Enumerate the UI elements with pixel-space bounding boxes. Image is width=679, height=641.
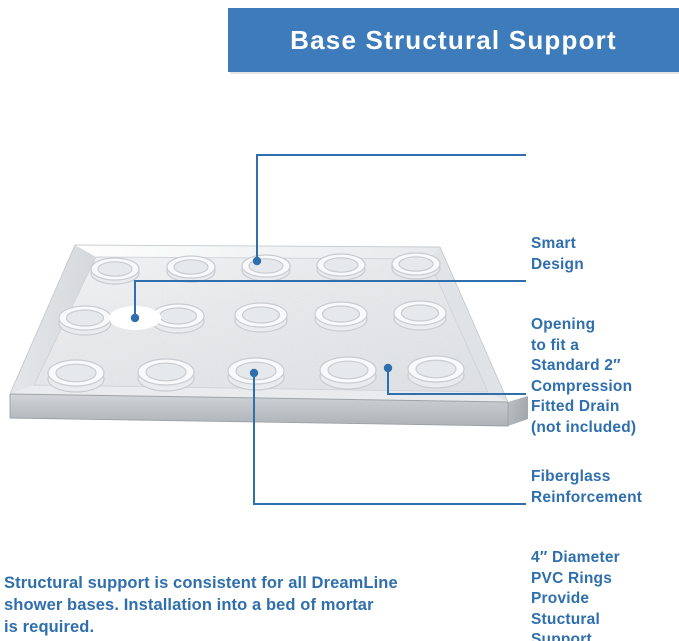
pvc-ring xyxy=(320,357,376,389)
leader-dot-fiberglass xyxy=(384,364,392,372)
pvc-ring xyxy=(138,359,194,391)
pvc-ring xyxy=(235,303,287,332)
pvc-ring xyxy=(48,360,104,392)
pvc-ring xyxy=(59,306,111,335)
pvc-ring xyxy=(392,253,440,279)
pvc-ring xyxy=(408,356,464,388)
leader-dot-opening xyxy=(131,314,139,322)
pvc-ring xyxy=(315,302,367,331)
pvc-ring xyxy=(317,254,365,280)
callout-label-fiberglass-reinforcement: Fiberglass Reinforcement xyxy=(531,467,642,508)
leader-dot-pvc-rings xyxy=(250,369,258,377)
pvc-ring xyxy=(91,258,139,284)
callout-label-pvc-rings: 4″ Diameter PVC Rings Provide Stuctural … xyxy=(531,548,620,641)
leader-line-smart-design xyxy=(257,155,525,261)
page-root: Base Structural Support xyxy=(0,0,679,641)
pvc-ring xyxy=(242,255,290,281)
pvc-ring xyxy=(394,301,446,330)
pvc-ring xyxy=(167,256,215,282)
header-banner: Base Structural Support xyxy=(228,8,679,72)
leader-dot-smart-design xyxy=(253,257,261,265)
product-illustration: Smart Design Opening to fit a Standard 2… xyxy=(0,96,679,556)
footer-note: Structural support is consistent for all… xyxy=(4,572,474,638)
page-title: Base Structural Support xyxy=(228,8,679,72)
callout-label-opening-drain: Opening to fit a Standard 2″ Compression… xyxy=(531,315,636,438)
callout-label-smart-design: Smart Design xyxy=(531,234,584,275)
